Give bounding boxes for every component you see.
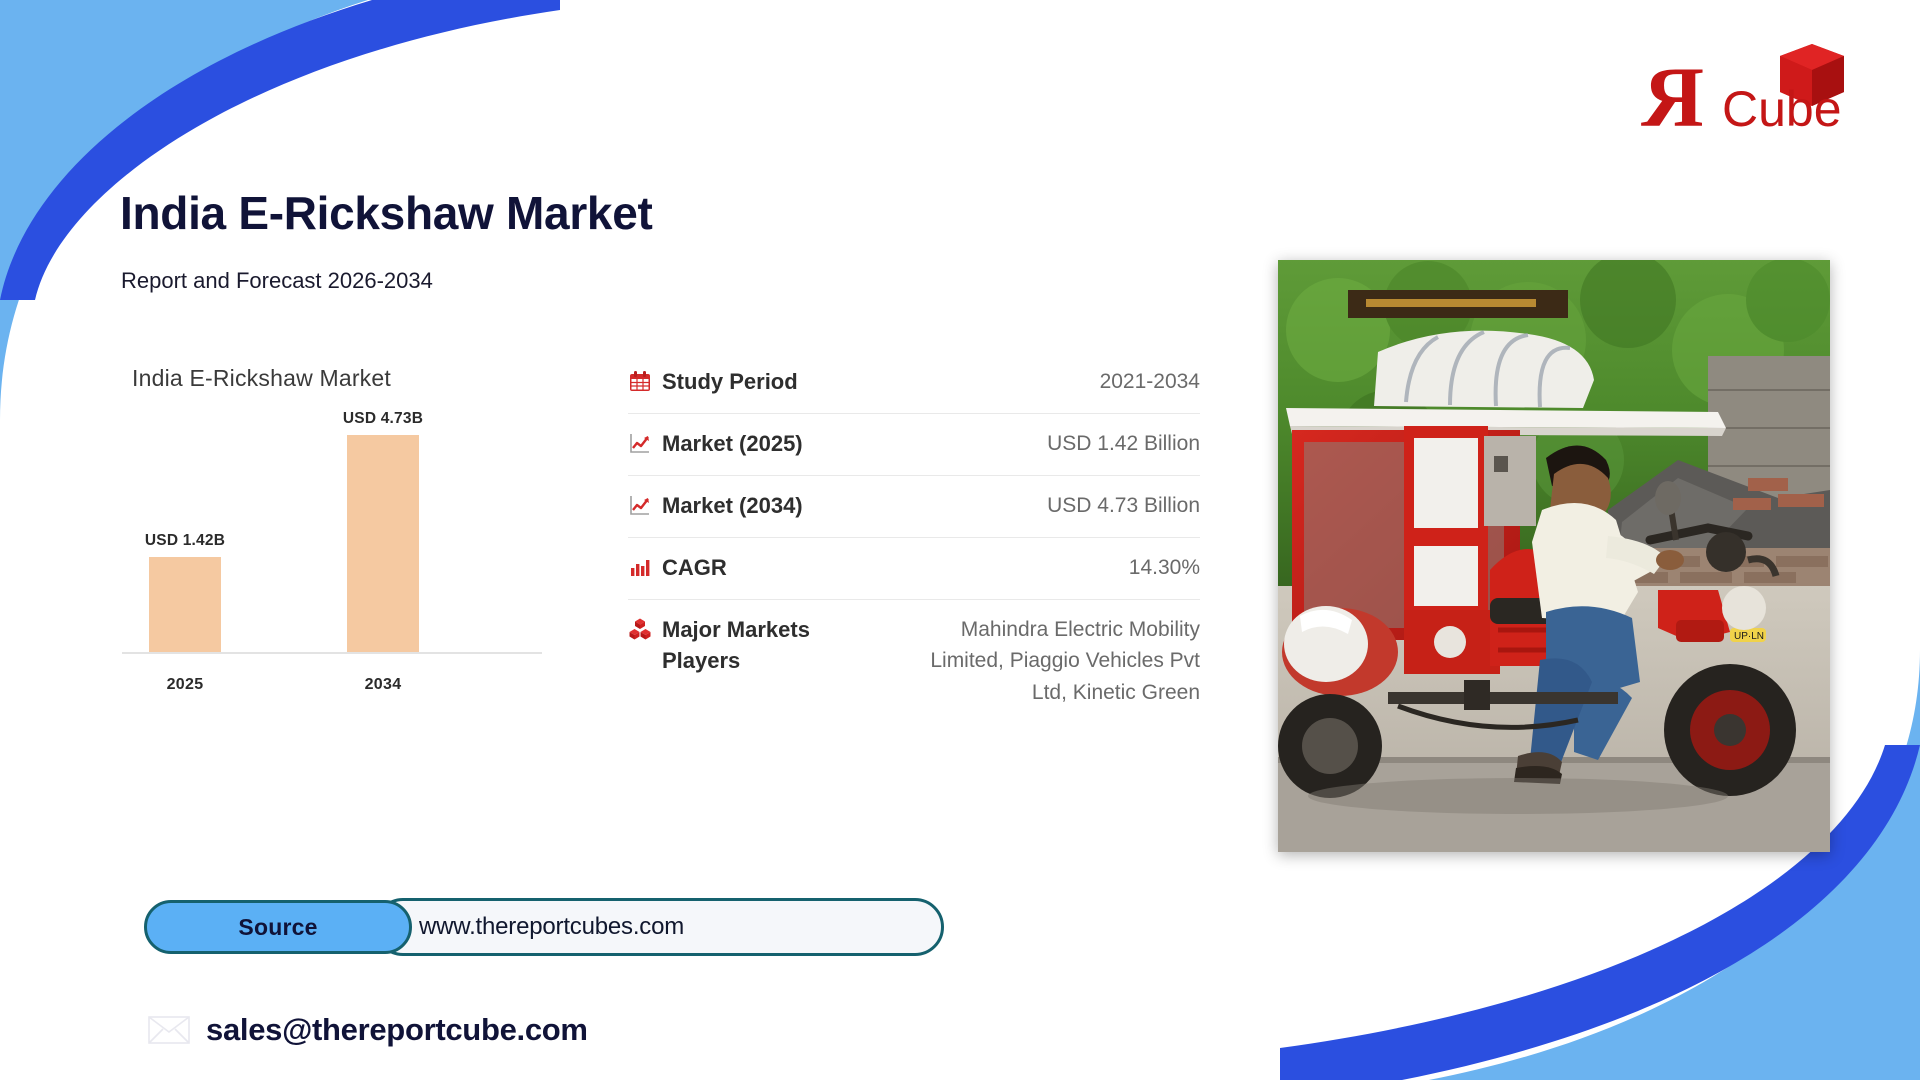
table-row: Market (2034) USD 4.73 Billion: [628, 476, 1200, 538]
source-url-text: www.thereportcubes.com: [419, 913, 684, 941]
fact-value-text: USD 4.73 Billion: [1047, 490, 1200, 522]
photo-illustration: UP·LN: [1278, 260, 1830, 852]
logo-wordmark: Cube: [1722, 81, 1842, 137]
bar-2034: [347, 435, 419, 652]
market-bar-chart: India E-Rickshaw Market USD 1.42B 2025 U…: [110, 365, 570, 785]
bar-value-label: USD 1.42B: [145, 532, 225, 550]
fact-value-text: 14.30%: [1129, 552, 1200, 584]
rear-wheel: [1278, 694, 1382, 798]
source-pill-label: Source: [238, 914, 317, 941]
table-row: Market (2025) USD 1.42 Billion: [628, 414, 1200, 476]
chart-plot-area: USD 1.42B 2025 USD 4.73B 2034: [122, 402, 542, 702]
bar-group-2025: USD 1.42B: [140, 532, 230, 652]
chart-title: India E-Rickshaw Market: [132, 365, 570, 392]
fact-label-text: Market (2025): [662, 428, 803, 460]
front-wheel: [1664, 664, 1796, 796]
fact-label-text: Market (2034): [662, 490, 803, 522]
rcube-logo: R Cube: [1622, 34, 1872, 144]
cubes-icon: [628, 617, 652, 641]
bar-group-2034: USD 4.73B: [338, 410, 428, 652]
source-pill[interactable]: Source: [144, 900, 412, 954]
fact-label-cell: Major Markets Players: [628, 614, 888, 678]
contact-email-text: sales@thereportcube.com: [206, 1012, 588, 1048]
fact-label-text: Major Markets Players: [662, 614, 888, 678]
e-rickshaw-photo-frame: UP·LN: [1278, 260, 1830, 852]
bar-chart-icon: [628, 555, 652, 579]
table-row: Study Period 2021-2034: [628, 352, 1200, 414]
source-url-field[interactable]: www.thereportcubes.com: [374, 898, 944, 956]
fact-value-text: Mahindra Electric Mobility Limited, Piag…: [900, 614, 1200, 709]
calendar-icon: [628, 369, 652, 393]
page-title: India E-Rickshaw Market: [120, 186, 653, 240]
envelope-icon: [148, 1016, 190, 1044]
x-tick-2025: 2025: [140, 676, 230, 694]
chart-baseline: [122, 652, 542, 654]
fact-label-cell: Market (2034): [628, 490, 803, 522]
chart-line-up-icon: [628, 431, 652, 455]
bar-value-label: USD 4.73B: [343, 410, 423, 428]
e-rickshaw-photo: UP·LN: [1278, 260, 1830, 852]
source-bar: www.thereportcubes.com Source: [144, 898, 944, 956]
fact-label-cell: CAGR: [628, 552, 727, 584]
key-facts-table: Study Period 2021-2034 Market (2025) USD…: [628, 352, 1200, 723]
table-row: CAGR 14.30%: [628, 538, 1200, 600]
page-subtitle: Report and Forecast 2026-2034: [121, 268, 433, 294]
chart-line-up-icon: [628, 493, 652, 517]
logo-r-glyph: R: [1641, 49, 1704, 144]
infographic-slide: R Cube India E-Rickshaw Market Report an…: [0, 0, 1920, 1080]
table-row: Major Markets Players Mahindra Electric …: [628, 600, 1200, 724]
fact-value-text: USD 1.42 Billion: [1047, 428, 1200, 460]
fact-label-cell: Study Period: [628, 366, 798, 398]
bar-2025: [149, 557, 221, 652]
contact-email-row[interactable]: sales@thereportcube.com: [148, 1012, 588, 1048]
svg-text:UP·LN: UP·LN: [1734, 631, 1764, 642]
fact-value-text: 2021-2034: [1100, 366, 1200, 398]
x-tick-2034: 2034: [338, 676, 428, 694]
fact-label-text: CAGR: [662, 552, 727, 584]
fact-label-cell: Market (2025): [628, 428, 803, 460]
fact-label-text: Study Period: [662, 366, 798, 398]
